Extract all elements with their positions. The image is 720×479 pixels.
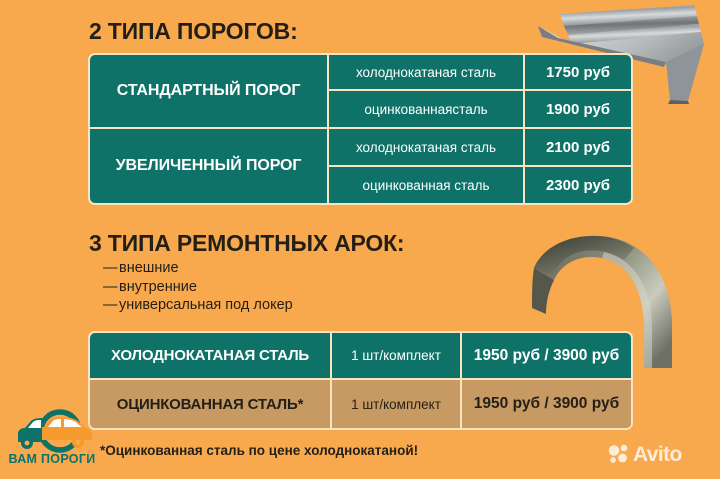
arch-quantity-galvanized: 1 шт/комплект xyxy=(332,378,462,428)
sill-extended-price-1: 2100 руб xyxy=(525,127,631,165)
sill-standard-price-1: 1750 руб xyxy=(525,55,631,89)
dash-bullet-icon: — xyxy=(103,296,119,315)
arch-price-coldrolled: 1950 руб / 3900 руб xyxy=(462,333,631,378)
arch-type-label-2: внутренние xyxy=(119,279,197,295)
dash-bullet-icon: — xyxy=(103,278,119,297)
avito-wordmark: Avito xyxy=(633,444,682,465)
sill-standard-price-2: 1900 руб xyxy=(525,89,631,127)
arch-type-label-3: универсальная под локер xyxy=(119,297,293,313)
arch-material-galvanized: ОЦИНКОВАННАЯ СТАЛЬ* xyxy=(90,378,332,428)
sill-type-standard-label: СТАНДАРТНЫЙ ПОРОГ xyxy=(90,55,329,127)
arch-material-coldrolled: ХОЛОДНОКАТАНАЯ СТАЛЬ xyxy=(90,333,332,378)
table-row: СТАНДАРТНЫЙ ПОРОГ холоднокатаная сталь 1… xyxy=(90,55,631,89)
sills-price-table: СТАНДАРТНЫЙ ПОРОГ холоднокатаная сталь 1… xyxy=(88,53,633,205)
poster-canvas: 2 ТИПА ПОРОГОВ: СТАНДАРТНЫЙ ПОРОГ холодн… xyxy=(0,0,720,479)
arch-type-label-1: внешние xyxy=(119,260,179,276)
sill-extended-price-2: 2300 руб xyxy=(525,165,631,203)
avito-watermark: Avito xyxy=(608,443,682,465)
arch-quantity-coldrolled: 1 шт/комплект xyxy=(332,333,462,378)
list-item: —внутренние xyxy=(103,278,293,297)
galvanized-price-footnote: *Оцинкованная сталь по цене холоднокатан… xyxy=(100,443,418,458)
arches-price-table: ХОЛОДНОКАТАНАЯ СТАЛЬ 1 шт/комплект 1950 … xyxy=(88,331,633,430)
sill-extended-material-1: холоднокатаная сталь xyxy=(329,127,525,165)
list-item: —универсальная под локер xyxy=(103,296,293,315)
sill-extended-material-2: оцинкованная сталь xyxy=(329,165,525,203)
table-row: ХОЛОДНОКАТАНАЯ СТАЛЬ 1 шт/комплект 1950 … xyxy=(90,333,631,378)
sills-section-heading: 2 ТИПА ПОРОГОВ: xyxy=(89,18,298,45)
sill-type-extended-label: УВЕЛИЧЕННЫЙ ПОРОГ xyxy=(90,127,329,203)
car-in-circle-icon xyxy=(18,412,92,450)
sill-standard-material-2: оцинкованнаясталь xyxy=(329,89,525,127)
logo-text: ВАМ ПОРОГИ xyxy=(9,452,96,466)
sill-standard-material-1: холоднокатаная сталь xyxy=(329,55,525,89)
table-row: УВЕЛИЧЕННЫЙ ПОРОГ холоднокатаная сталь 2… xyxy=(90,127,631,165)
arch-price-galvanized: 1950 руб / 3900 руб xyxy=(462,378,631,428)
list-item: —внешние xyxy=(103,259,293,278)
dash-bullet-icon: — xyxy=(103,259,119,278)
arches-section-heading: 3 ТИПА РЕМОНТНЫХ АРОК: xyxy=(89,230,404,257)
table-row: ОЦИНКОВАННАЯ СТАЛЬ* 1 шт/комплект 1950 р… xyxy=(90,378,631,428)
arch-types-list: —внешние —внутренние —универсальная под … xyxy=(103,259,293,315)
vam-porogi-logo: ВАМ ПОРОГИ xyxy=(8,409,96,467)
avito-dots-icon xyxy=(608,443,630,465)
